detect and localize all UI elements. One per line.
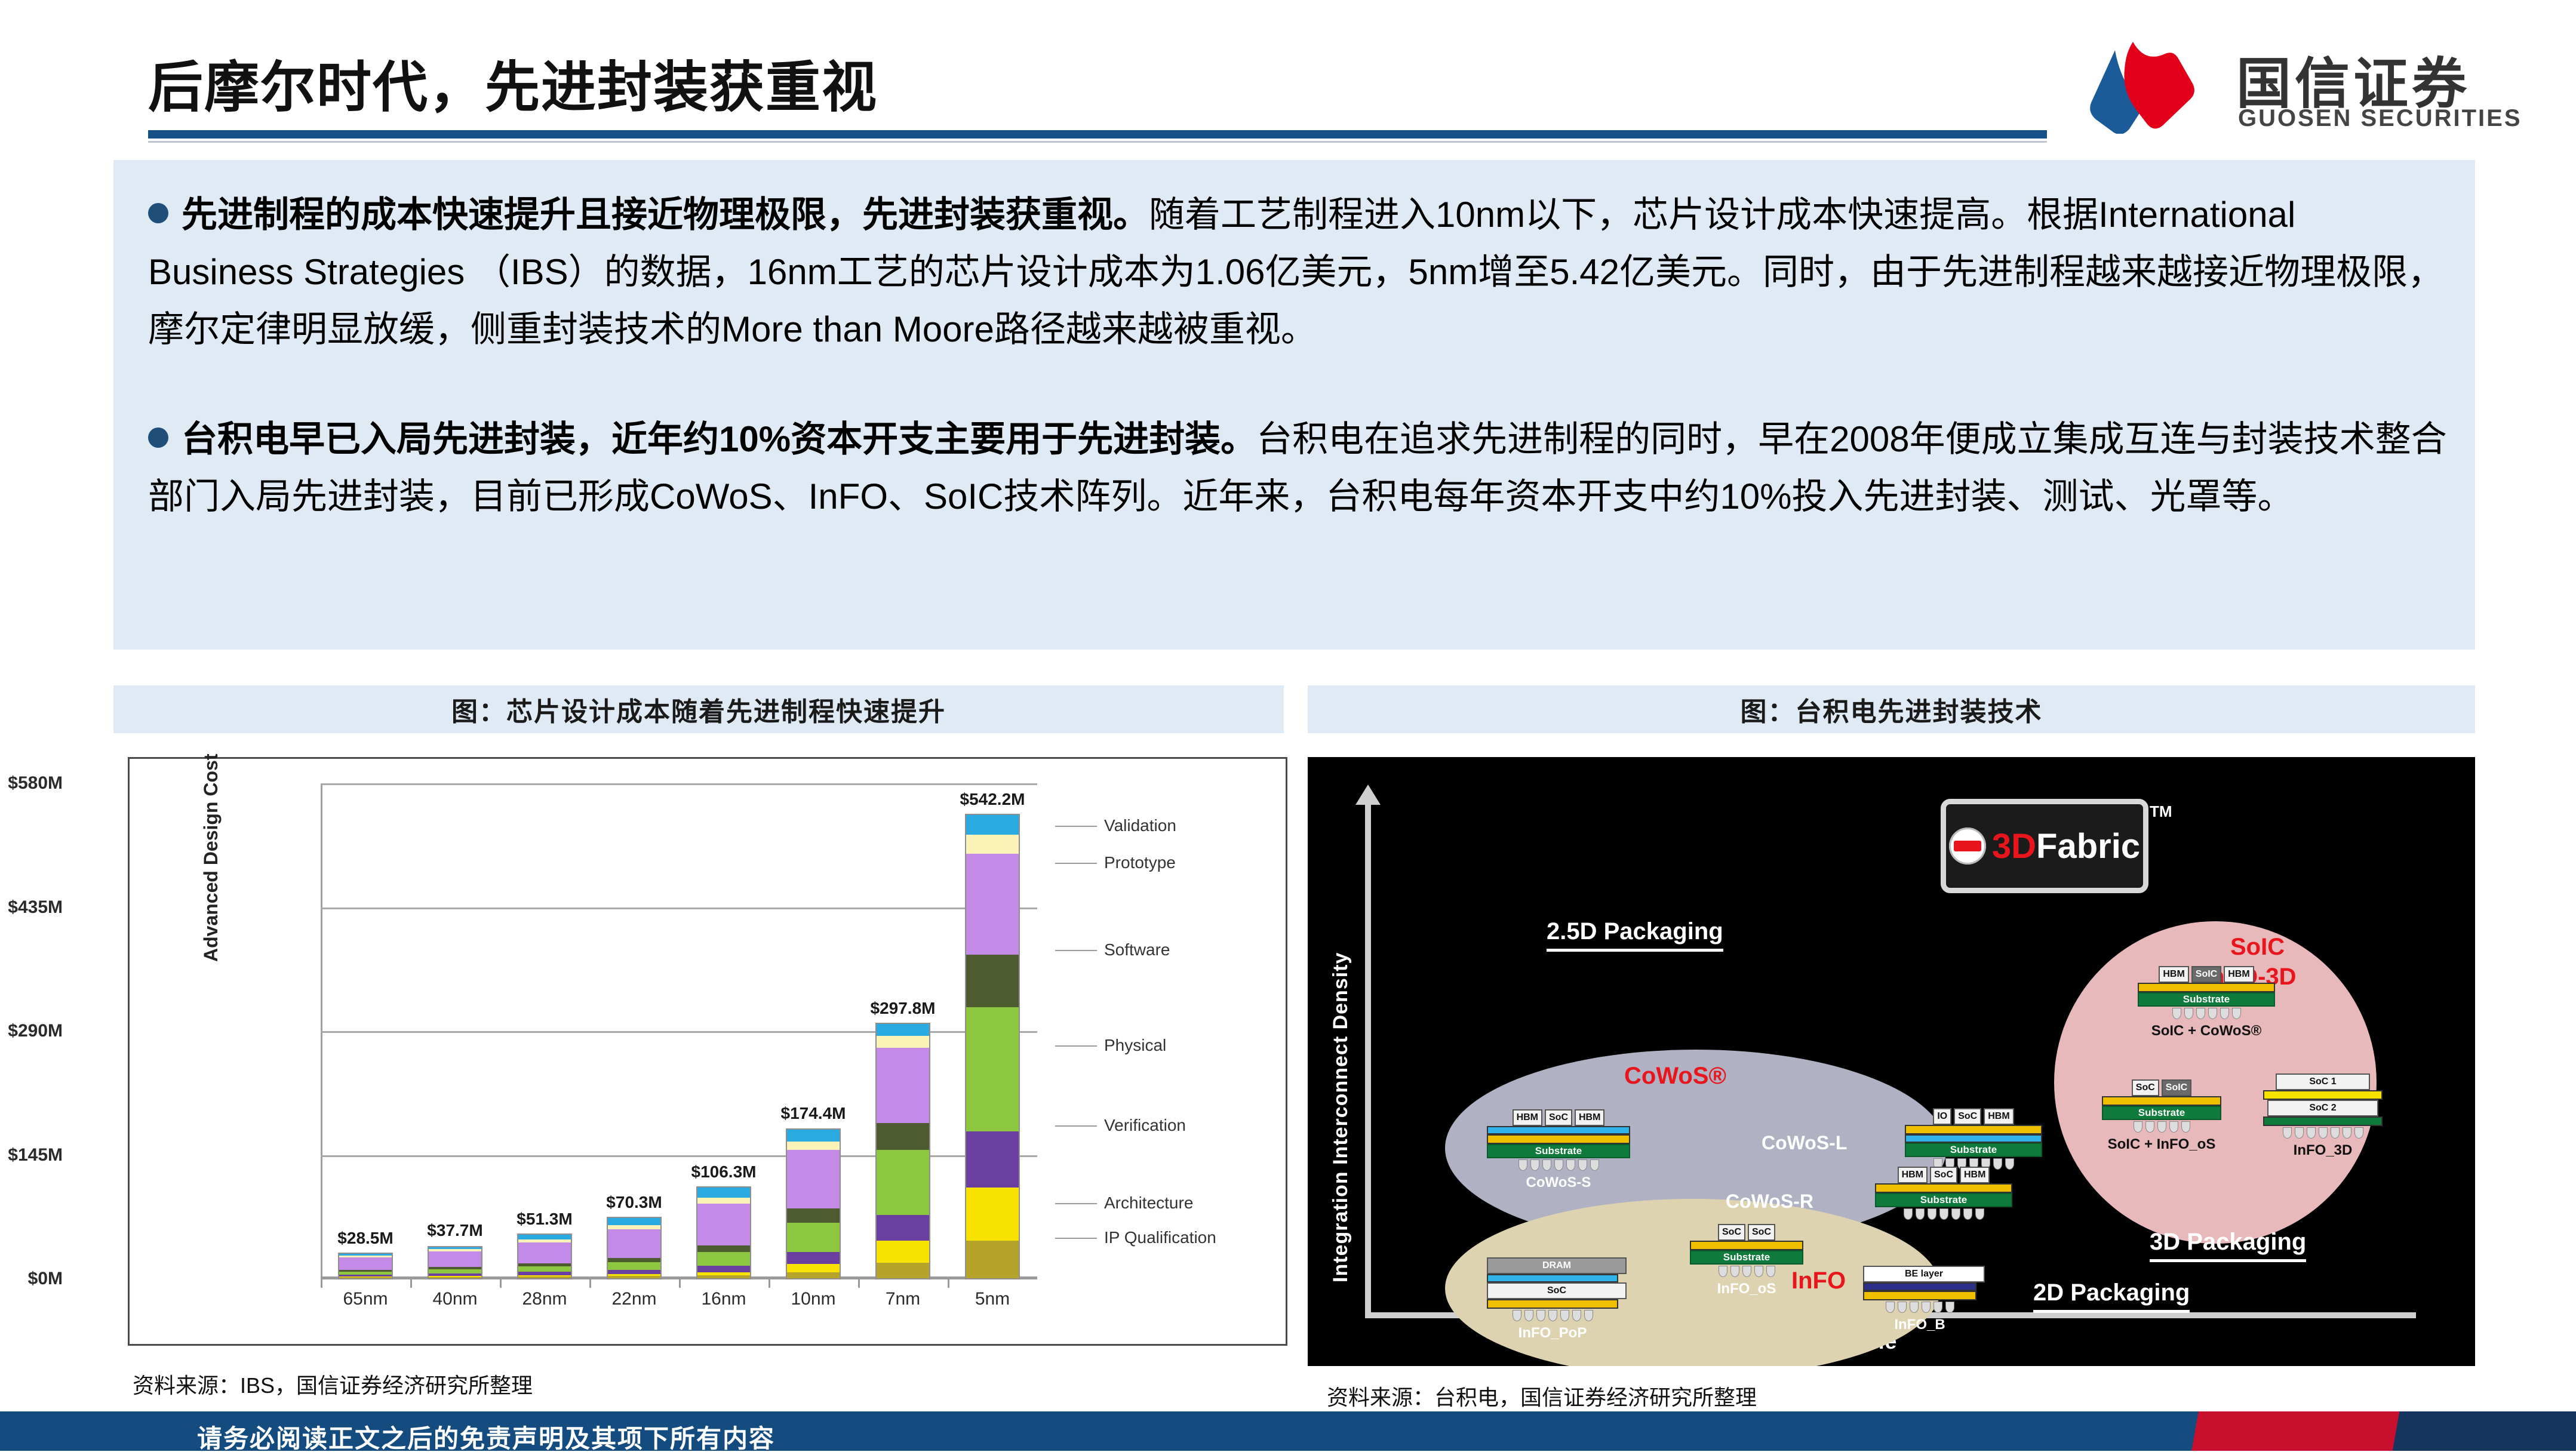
right-figure-caption-text: 图：台积电先进封装技术 [1741, 690, 2043, 728]
die-hbm: HBM [1513, 1109, 1542, 1126]
chart-bar [428, 1246, 482, 1279]
rdl-layer [1863, 1291, 1976, 1300]
chart-legend-label: Validation [1104, 816, 1176, 835]
chart-bar [786, 1128, 841, 1280]
die-soc2: SoC 2 [2267, 1100, 2378, 1116]
package-label-cowos-l: CoWoS-L [1762, 1132, 1847, 1154]
tsmc-3dfabric-logo: 3DFabric [1941, 799, 2148, 893]
die-io: IO [1933, 1108, 1951, 1125]
die-row: HBM SoC HBM [1487, 1109, 1630, 1126]
solder-ball-row [2263, 1127, 2383, 1139]
die-be-layer: BE layer [1863, 1266, 1985, 1282]
substrate-layer: Substrate [2138, 992, 2275, 1007]
design-cost-chart: Advanced Design Cost $0M$145M$290M$435M$… [128, 757, 1287, 1346]
chart-bar-segment [518, 1266, 571, 1272]
chart-gridline [321, 908, 1037, 909]
die-soic: SoIC [2191, 966, 2221, 983]
left-figure-caption-text: 图：芯片设计成本随着先进制程快速提升 [451, 690, 946, 728]
chart-legend-label: Prototype [1104, 853, 1176, 872]
chart-bar-segment [877, 1036, 929, 1048]
chart-bar-segment [877, 1241, 929, 1263]
chart-bar-segment [787, 1223, 840, 1252]
chart-bar-segment [518, 1276, 571, 1278]
die-soic: SoIC [2162, 1079, 2191, 1096]
die-hbm: HBM [2159, 966, 2188, 983]
package-info-b: BE layer InFO_B [1863, 1266, 1976, 1333]
chart-bar-segment [518, 1235, 571, 1239]
chart-bar-segment [966, 955, 1019, 1008]
package-label-info-pop: InFO_PoP [1487, 1325, 1618, 1342]
chart-bar-segment [697, 1266, 750, 1272]
chart-bar-segment [608, 1218, 660, 1225]
chart-x-tick-label: 28nm [497, 1289, 592, 1309]
chart-bar-segment [877, 1150, 929, 1215]
chart-bar-segment [966, 854, 1019, 955]
logo-3d-text: 3D [1992, 826, 2036, 866]
chart-x-tick [948, 1279, 949, 1288]
chart-bar-value-label: $28.5M [318, 1229, 413, 1248]
zone-title-25d: 2.5D Packaging [1547, 918, 1723, 952]
die-soc1: SoC 1 [2276, 1073, 2370, 1090]
solder-ball-row [1487, 1159, 1630, 1171]
footer-disclaimer: 请务必阅读正文之后的免责声明及其项下所有内容 [197, 1419, 775, 1455]
chart-bar-segment [339, 1257, 392, 1270]
chart-legend-label: IP Qualification [1104, 1228, 1216, 1247]
chart-bar-segment [966, 835, 1019, 853]
chart-bar-segment [966, 1007, 1019, 1131]
chart-bar [517, 1233, 572, 1279]
header-rule [148, 130, 2047, 139]
right-figure-caption: 图：台积电先进封装技术 [1308, 685, 2475, 733]
package-label-soic-info-os: SoIC + InFO_oS [2102, 1136, 2221, 1153]
chart-x-tick-label: 22nm [586, 1289, 682, 1309]
package-label-info-os: InFO_oS [1690, 1281, 1803, 1297]
package-label-cowos-s: CoWoS-S [1487, 1174, 1630, 1191]
chart-x-tick-label: 40nm [407, 1289, 503, 1309]
bullet-dot-icon [148, 427, 168, 448]
rdl-layer [2102, 1096, 2221, 1106]
rdl-layer [2263, 1116, 2383, 1126]
chart-y-tick-label: $290M [0, 1021, 63, 1041]
chart-bar-segment [787, 1272, 840, 1278]
chart-x-tick [858, 1279, 860, 1288]
interposer-layer [1905, 1134, 2042, 1143]
chart-bar-segment [339, 1277, 392, 1278]
page-title: 后摩尔时代，先进封装获重视 [148, 43, 878, 122]
zone-title-2d: 2D Packaging [2033, 1279, 2190, 1313]
chart-legend-label: Architecture [1104, 1193, 1193, 1213]
chart-bar [875, 1023, 930, 1279]
tsmc-wafer-icon [1949, 828, 1986, 865]
package-info-os: SoC SoC Substrate InFO_oS [1690, 1224, 1803, 1297]
left-figure-caption: 图：芯片设计成本随着先进制程快速提升 [113, 685, 1284, 733]
package-info-pop: DRAM SoC InFO_PoP [1487, 1257, 1618, 1342]
microbump-layer [2138, 983, 2275, 992]
chart-bar-segment [787, 1142, 840, 1151]
guosen-logo-icon [2078, 38, 2215, 134]
chart-bar-segment [966, 1188, 1019, 1241]
chart-bar-segment [877, 1048, 929, 1123]
microbump-layer [1905, 1125, 2042, 1134]
die-soc: SoC [1718, 1224, 1745, 1241]
chart-bar-segment [697, 1198, 750, 1204]
chart-bar [338, 1253, 393, 1279]
chart-x-tick-label: 5nm [945, 1289, 1040, 1309]
chart-bar-segment [877, 1024, 929, 1036]
tsv-layer [2263, 1090, 2383, 1100]
package-cowos-r: HBM SoC HBM Substrate [1875, 1167, 2012, 1220]
chart-legend: ValidationPrototypeSoftwarePhysicalVerif… [1049, 780, 1276, 1282]
chart-x-tick-label: 65nm [318, 1289, 413, 1309]
chart-bar-value-label: $174.4M [766, 1104, 861, 1123]
die-row: HBM SoC HBM [1875, 1167, 2012, 1183]
chart-bar [965, 814, 1020, 1279]
chart-bar-segment [608, 1276, 660, 1278]
chart-x-tick [679, 1279, 681, 1288]
chart-y-tick-label: $145M [0, 1145, 63, 1165]
chart-y-axis-title: Advanced Design Cost [200, 711, 222, 962]
microbump-layer [1487, 1134, 1630, 1144]
die-hbm: HBM [1960, 1167, 1990, 1183]
die-dram: DRAM [1487, 1257, 1627, 1274]
chart-bar-segment [787, 1264, 840, 1272]
chart-y-tick-label: $0M [0, 1269, 63, 1289]
chart-x-tick [589, 1279, 591, 1288]
rdl-layer [1875, 1183, 2012, 1193]
chart-bar-segment [608, 1229, 660, 1257]
chart-bar-segment [966, 1241, 1019, 1278]
chart-bar-segment [608, 1225, 660, 1229]
trademark-symbol: TM [2150, 802, 2172, 821]
diagram-y-axis-title: Integration Interconnect Density [1329, 952, 1352, 1282]
bullet-paragraph-2: 台积电早已入局先进封装，近年约10%资本开支主要用于先进封装。台积电在追求先进制… [148, 411, 2447, 525]
footer-accent [2146, 1411, 2576, 1451]
chart-bar-value-label: $106.3M [676, 1162, 771, 1182]
die-row: HBM SoIC HBM [2138, 966, 2275, 983]
bullet-1-bold: 先进制程的成本快速提升且接近物理极限，先进封装获重视。 [182, 195, 1149, 235]
chart-x-tick [769, 1279, 770, 1288]
solder-ball-row [1487, 1310, 1618, 1321]
die-soc: SoC [1545, 1109, 1572, 1126]
chart-bar-segment [697, 1204, 750, 1245]
chart-bar-segment [787, 1130, 840, 1142]
chart-legend-leader-line [1055, 863, 1097, 864]
header-rule-thin [148, 141, 2047, 143]
chart-legend-leader-line [1055, 1203, 1097, 1204]
chart-gridline [321, 783, 1037, 785]
chart-x-tick-label: 16nm [676, 1289, 771, 1309]
family-label-soic: SoIC [2230, 934, 2285, 961]
chart-bar-value-label: $37.7M [407, 1221, 503, 1240]
chart-y-tick-label: $435M [0, 897, 63, 918]
package-soic-cowos: HBM SoIC HBM Substrate SoIC + CoWoS® [2138, 966, 2275, 1039]
rdl-layer [1487, 1299, 1618, 1309]
chart-bar-segment [877, 1215, 929, 1241]
chart-legend-label: Software [1104, 940, 1170, 959]
chart-legend-leader-line [1055, 950, 1097, 951]
die-hbm: HBM [1575, 1109, 1604, 1126]
chart-bar [607, 1217, 662, 1279]
chart-y-tick-label: $580M [0, 773, 63, 793]
chart-bar-segment [608, 1258, 660, 1262]
chart-bar-segment [697, 1188, 750, 1198]
substrate-layer: Substrate [1690, 1250, 1803, 1265]
solder-ball-row [2102, 1121, 2221, 1133]
package-cowos-l: IO SoC HBM Substrate [1905, 1108, 2042, 1170]
summary-panel: 先进制程的成本快速提升且接近物理极限，先进封装获重视。随着工艺制程进入10nm以… [113, 160, 2475, 650]
chart-x-tick [500, 1279, 502, 1288]
die-row: IO SoC HBM [1905, 1108, 2042, 1125]
rdl-layer [1690, 1241, 1803, 1250]
chart-plot-area: $0M$145M$290M$435M$580M$28.5M65nm$37.7M4… [321, 784, 1037, 1279]
ipd-layer [1863, 1282, 1976, 1291]
package-info-3d: SoC 1 SoC 2 InFO_3D [2263, 1073, 2383, 1159]
left-source-note: 资料来源：IBS，国信证券经济研究所整理 [133, 1368, 533, 1399]
chart-legend-leader-line [1055, 1045, 1097, 1047]
package-label-cowos-r: CoWoS-R [1726, 1191, 1813, 1213]
solder-ball-row [1863, 1302, 1976, 1313]
chart-x-tick [410, 1279, 412, 1288]
solder-ball-row [1875, 1208, 2012, 1220]
die-soc: SoC [1748, 1224, 1775, 1241]
chart-bar-segment [429, 1269, 481, 1273]
die-hbm: HBM [1984, 1108, 2014, 1125]
die-soc: SoC [1487, 1282, 1627, 1299]
chart-bar-segment [697, 1245, 750, 1252]
chart-bar-segment [787, 1150, 840, 1208]
chart-bar-segment [787, 1252, 840, 1264]
chart-bar-segment [429, 1251, 481, 1268]
bullet-dot-icon [148, 203, 168, 223]
chart-bar-segment [877, 1123, 929, 1151]
package-cowos-s: HBM SoC HBM Substrate CoWoS-S [1487, 1109, 1630, 1191]
chart-bar-value-label: $542.2M [945, 790, 1040, 809]
family-label-cowos: CoWoS® [1624, 1063, 1726, 1090]
chart-bar-value-label: $51.3M [497, 1210, 592, 1229]
package-label-info-b: InFO_B [1863, 1316, 1976, 1333]
die-soc: SoC [2132, 1079, 2159, 1096]
logo-fabric-text: Fabric [2036, 826, 2140, 866]
die-soc: SoC [1954, 1108, 1981, 1125]
chart-bar-segment [608, 1270, 660, 1274]
chart-bar-segment [608, 1262, 660, 1270]
slide-header: 后摩尔时代，先进封装获重视 国信证券 GUOSEN SECURITIES [0, 0, 2576, 152]
chart-bar-segment [697, 1275, 750, 1278]
package-soic-info-os: SoC SoIC Substrate SoIC + InFO_oS [2102, 1079, 2221, 1153]
substrate-layer: Substrate [1875, 1193, 2012, 1207]
package-label-info-3d: InFO_3D [2263, 1142, 2383, 1159]
interposer-layer [1487, 1126, 1630, 1134]
chart-bar-segment [966, 1131, 1019, 1188]
tsmc-3dfabric-diagram: Integration Interconnect Density Time 3D… [1308, 757, 2475, 1366]
solder-ball-row [2138, 1008, 2275, 1019]
brand-logo: 国信证券 GUOSEN SECURITIES [2078, 36, 2532, 131]
chart-bar-segment [518, 1242, 571, 1263]
die-row: SoC SoC [1690, 1224, 1803, 1241]
substrate-layer: Substrate [1487, 1144, 1630, 1158]
logo-text-en: GUOSEN SECURITIES [2238, 105, 2522, 132]
chart-bar-value-label: $70.3M [586, 1193, 682, 1212]
diagram-y-axis [1365, 799, 1371, 1312]
chart-x-tick [321, 1279, 322, 1288]
slide-root: 后摩尔时代，先进封装获重视 国信证券 GUOSEN SECURITIES 先进制… [0, 0, 2576, 1451]
chart-bar-value-label: $297.8M [855, 999, 951, 1018]
chart-bar-segment [697, 1252, 750, 1266]
tiv-layer [1487, 1274, 1618, 1282]
zone-title-3d: 3D Packaging [2150, 1229, 2306, 1262]
chart-legend-leader-line [1055, 826, 1097, 827]
substrate-layer: Substrate [1905, 1143, 2042, 1157]
die-row: SoC SoIC [2102, 1079, 2221, 1096]
solder-ball-row [1690, 1266, 1803, 1277]
die-hbm: HBM [1898, 1167, 1928, 1183]
die-hbm: HBM [2224, 966, 2254, 983]
package-label-soic-cowos: SoIC + CoWoS® [2138, 1023, 2275, 1039]
substrate-layer: Substrate [2102, 1106, 2221, 1120]
chart-bar [696, 1186, 751, 1279]
chart-legend-leader-line [1055, 1125, 1097, 1127]
chart-x-tick-label: 7nm [855, 1289, 951, 1309]
chart-legend-label: Verification [1104, 1116, 1186, 1135]
chart-legend-leader-line [1055, 1238, 1097, 1239]
die-soc: SoC [1930, 1167, 1957, 1183]
bullet-2-bold: 台积电早已入局先进封装，近年约10%资本开支主要用于先进封装。 [182, 419, 1256, 459]
bullet-paragraph-1: 先进制程的成本快速提升且接近物理极限，先进封装获重视。随着工艺制程进入10nm以… [148, 186, 2447, 358]
chart-bar-segment [429, 1277, 481, 1278]
chart-bar-segment [966, 815, 1019, 835]
chart-x-tick-label: 10nm [766, 1289, 861, 1309]
chart-bar-segment [787, 1208, 840, 1223]
chart-legend-label: Physical [1104, 1036, 1166, 1055]
right-source-note: 资料来源：台积电，国信证券经济研究所整理 [1327, 1380, 1757, 1411]
chart-bar-segment [877, 1263, 929, 1278]
